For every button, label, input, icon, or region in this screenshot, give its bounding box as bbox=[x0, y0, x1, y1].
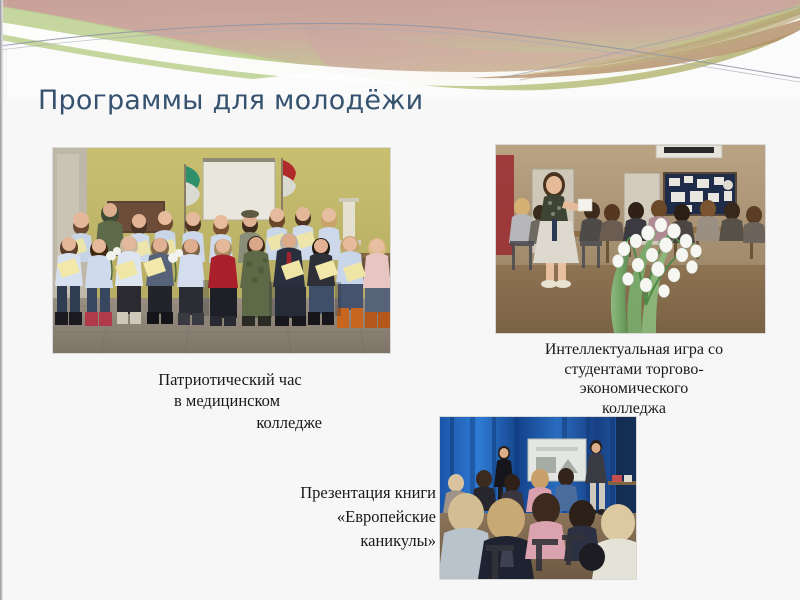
photo-medical-artwork bbox=[53, 148, 390, 353]
caption-line: Презентация книги bbox=[236, 481, 436, 505]
caption-line: колледжа bbox=[500, 399, 768, 419]
page-title: Программы для молодёжи bbox=[38, 85, 423, 116]
caption-line: каникулы» bbox=[236, 529, 436, 553]
photo-book-presentation-european-holidays[interactable] bbox=[440, 417, 636, 579]
caption-book-presentation-european-holidays: Презентация книги «Европейские каникулы» bbox=[236, 481, 436, 553]
caption-line: колледже bbox=[110, 412, 350, 433]
caption-line: в медицинском bbox=[110, 390, 350, 411]
caption-line: Патриотический час bbox=[110, 369, 350, 390]
photo-book-artwork bbox=[440, 417, 636, 579]
photo-game-artwork bbox=[496, 145, 765, 333]
caption-intellectual-game-trade-economic-college: Интеллектуальная игра со студентами торг… bbox=[500, 340, 768, 418]
caption-line: студентами торгово- bbox=[500, 360, 768, 380]
photo-patriotic-hour-medical-college[interactable] bbox=[53, 148, 390, 353]
caption-patriotic-hour-medical-college: Патриотический час в медицинском колледж… bbox=[110, 369, 350, 433]
photo-intellectual-game-trade-economic-college[interactable] bbox=[496, 145, 765, 333]
slide-left-edge bbox=[0, 0, 3, 600]
caption-line: «Европейские bbox=[236, 505, 436, 529]
caption-line: Интеллектуальная игра со bbox=[500, 340, 768, 360]
presentation-slide: Программы для молодёжи bbox=[0, 0, 800, 600]
caption-line: экономического bbox=[500, 379, 768, 399]
